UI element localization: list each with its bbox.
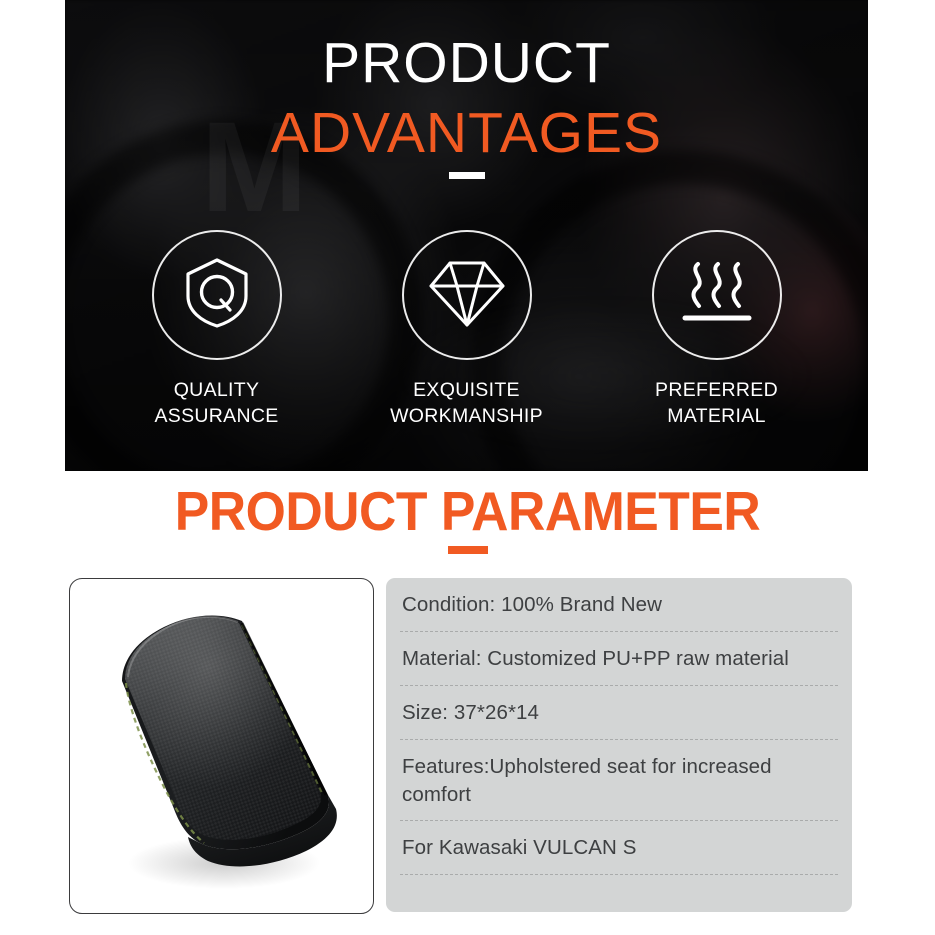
product-advantages-hero: M PRODUCT ADVANTAGES QUALITY <box>65 0 868 471</box>
heat-waves-icon <box>677 258 757 333</box>
product-parameter-heading: PRODUCT PARAMETER <box>28 484 907 539</box>
feature-preferred-material: PREFERRED MATERIAL <box>592 230 842 429</box>
feature-exquisite-workmanship: EXQUISITE WORKMANSHIP <box>342 230 592 429</box>
shield-quality-icon <box>180 255 254 336</box>
hero-title-accent: ADVANTAGES <box>65 103 868 163</box>
spec-row: Features:Upholstered seat for increased … <box>400 740 838 822</box>
spec-row: Size: 37*26*14 <box>400 686 838 740</box>
product-image-frame <box>69 578 374 914</box>
product-spec-panel: Condition: 100% Brand New Material: Cust… <box>386 578 852 912</box>
motorcycle-seat-photo <box>92 595 350 895</box>
feature-icon-circle <box>402 230 532 360</box>
feature-list: QUALITY ASSURANCE <box>65 230 868 429</box>
hero-title-primary: PRODUCT <box>65 33 868 93</box>
hero-divider-dash <box>449 172 485 179</box>
diamond-icon <box>427 255 507 336</box>
spec-row: For Kawasaki VULCAN S <box>400 821 838 875</box>
feature-icon-circle <box>152 230 282 360</box>
feature-quality-assurance: QUALITY ASSURANCE <box>92 230 342 429</box>
spec-row: Condition: 100% Brand New <box>400 578 838 632</box>
feature-icon-circle <box>652 230 782 360</box>
spec-row: Material: Customized PU+PP raw material <box>400 632 838 686</box>
feature-label-material: PREFERRED MATERIAL <box>655 378 778 429</box>
parameter-divider-dash <box>448 546 488 554</box>
feature-label-quality: QUALITY ASSURANCE <box>154 378 278 429</box>
feature-label-workmanship: EXQUISITE WORKMANSHIP <box>390 378 543 429</box>
